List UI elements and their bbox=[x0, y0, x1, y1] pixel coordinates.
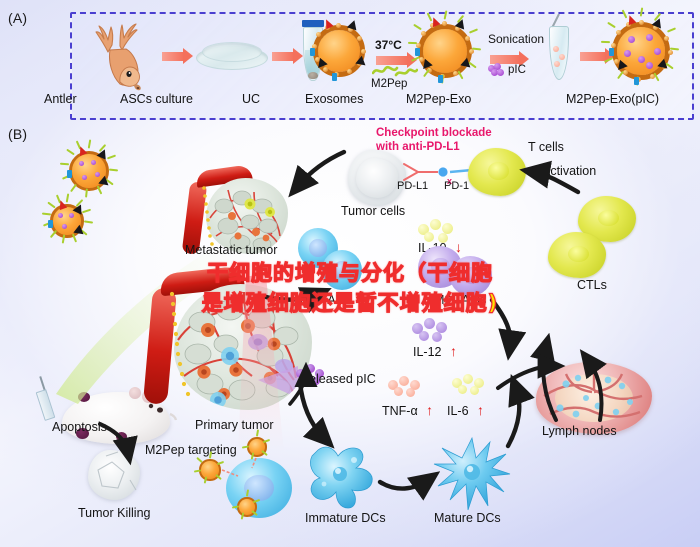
panel-b-tag: (B) bbox=[8, 126, 27, 142]
pic-cluster-icon bbox=[488, 63, 504, 75]
label-pd-1: PD-1 bbox=[444, 180, 469, 192]
label-tnf-a: TNF-α bbox=[382, 404, 418, 418]
label-il-6: IL-6 bbox=[447, 404, 469, 418]
targeting-nanoparticle-3 bbox=[236, 496, 258, 518]
antler-deer-illustration bbox=[86, 22, 158, 92]
label-lymph-nodes: Lymph nodes bbox=[542, 424, 617, 438]
exosome-particle bbox=[310, 22, 368, 80]
reaction-label-sonication: Sonication bbox=[488, 32, 544, 46]
m2pep-peptide-squiggle bbox=[372, 64, 418, 78]
stage-label-exosomes: Exosomes bbox=[305, 92, 363, 106]
primary-tumor-illustration bbox=[148, 272, 324, 422]
ctl-cell-2 bbox=[548, 232, 606, 278]
cytokine-tnfa: TNF-α ↑ bbox=[382, 402, 433, 420]
label-mature-dcs: Mature DCs bbox=[434, 511, 501, 525]
label-apoptosis: Apoptosis bbox=[52, 420, 107, 434]
label-tumor-killing: Tumor Killing bbox=[78, 506, 150, 520]
mature-dc-illustration bbox=[432, 432, 514, 512]
label-t-cells: T cells bbox=[528, 140, 564, 154]
checkpoint-line-2: with anti-PD-L1 bbox=[376, 140, 492, 154]
targeting-nanoparticle-2 bbox=[246, 436, 268, 458]
stage-label-ascs-culture: ASCs culture bbox=[120, 92, 193, 106]
targeting-nanoparticle-1 bbox=[198, 458, 222, 482]
immature-dc-illustration bbox=[304, 438, 380, 512]
reaction-label-peptide: M2Pep bbox=[371, 78, 407, 90]
process-arrow-6 bbox=[580, 52, 606, 61]
il-12-up-arrow: ↑ bbox=[450, 343, 457, 359]
il6-cytokine-dots bbox=[452, 374, 490, 394]
stage-label-m2pep-exo-pic: M2Pep-Exo(pIC) bbox=[566, 92, 659, 106]
injected-nanoparticle-2 bbox=[48, 202, 86, 240]
stage-label-uc: UC bbox=[242, 92, 260, 106]
sonicator-tube-illustration bbox=[545, 14, 573, 80]
label-metastatic-tumor: Metastatic tumor bbox=[185, 243, 277, 257]
label-immature-dcs: Immature DCs bbox=[305, 511, 386, 525]
cytokine-il6: IL-6 ↑ bbox=[447, 402, 484, 420]
label-m2pep-targeting: M2Pep targeting bbox=[145, 443, 237, 457]
tnfa-cytokine-dots bbox=[388, 376, 426, 396]
stage-label-antler: Antler bbox=[44, 92, 77, 106]
m1-tam-cell-2 bbox=[322, 250, 362, 290]
label-released-pic: Released pIC bbox=[300, 372, 376, 386]
injected-nanoparticle-1 bbox=[66, 148, 112, 194]
process-arrow-1 bbox=[162, 52, 184, 61]
figure-canvas: (A) Antler ASCs culture UC bbox=[0, 0, 700, 547]
reaction-label-temperature: 37°C bbox=[375, 38, 402, 52]
stage-label-m2pep-exo: M2Pep-Exo bbox=[406, 92, 471, 106]
reaction-label-pic: pIC bbox=[508, 64, 526, 76]
cytokine-il12: IL-12 ↑ bbox=[413, 343, 457, 361]
petri-dish-illustration bbox=[196, 42, 268, 76]
label-primary-tumor: Primary tumor bbox=[195, 418, 273, 432]
tnf-a-up-arrow: ↑ bbox=[426, 402, 433, 418]
il10-cytokine-dots bbox=[418, 218, 460, 240]
label-tumor-cells: Tumor cells bbox=[341, 204, 405, 218]
il-6-up-arrow: ↑ bbox=[477, 402, 484, 418]
il12-cytokine-dots bbox=[412, 318, 456, 340]
label-activation: Activation bbox=[542, 164, 596, 178]
checkpoint-line-1: Checkpoint blockade bbox=[376, 126, 492, 140]
m2-tam-cell-2 bbox=[450, 256, 492, 296]
process-arrow-2 bbox=[272, 52, 294, 61]
m2pep-exosome-particle bbox=[414, 20, 476, 82]
apoptotic-tumor-cell bbox=[88, 450, 140, 500]
label-ctls: CTLs bbox=[577, 278, 607, 292]
m2pep-exosome-pic-particle bbox=[608, 18, 674, 84]
label-il-12: IL-12 bbox=[413, 345, 442, 359]
label-pd-l1: PD-L1 bbox=[397, 180, 428, 192]
panel-a-tag: (A) bbox=[8, 10, 27, 26]
checkpoint-blockade-callout: Checkpoint blockade with anti-PD-L1 bbox=[376, 126, 492, 154]
label-m2-tams: M2 TAMs bbox=[434, 293, 486, 307]
label-m1-tams: M1 TAMs bbox=[300, 293, 352, 307]
t-cell-1 bbox=[468, 148, 526, 196]
